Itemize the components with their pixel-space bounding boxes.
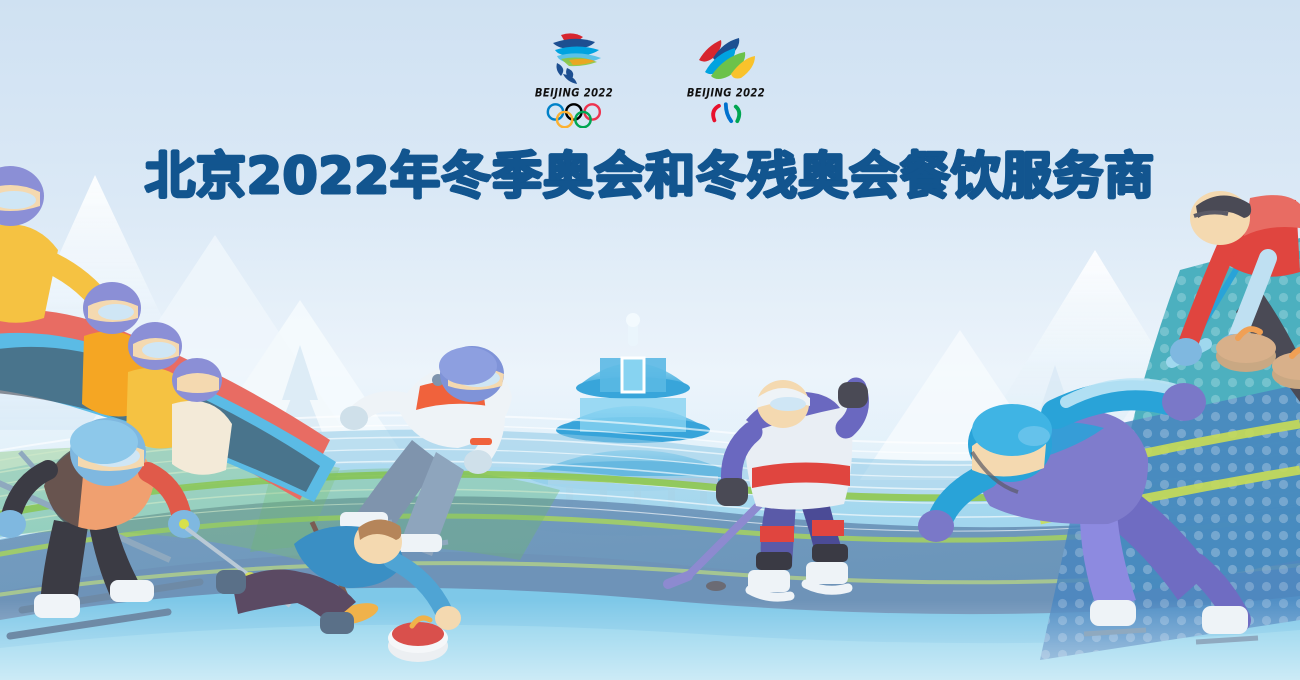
olympic-wordmark: BEIJING 2022 xyxy=(535,87,613,99)
athlete-short-track-speed-skating xyxy=(330,346,512,556)
athlete-ice-hockey xyxy=(668,380,868,597)
paralympic-emblem: BEIJING 2022 xyxy=(676,30,776,128)
banner-title-text: 北京2022年冬季奥会和冬残奥会餐饮服务商 xyxy=(145,146,1155,206)
paralympic-emblem-mark xyxy=(683,30,769,86)
paralympic-agitos-icon xyxy=(696,102,756,128)
athlete-speed-skating xyxy=(918,383,1258,642)
beijing-2022-banner: BEIJING 2022 BEIJING 2022 xyxy=(0,0,1300,680)
paralympic-wordmark: BEIJING 2022 xyxy=(687,87,765,99)
emblems-row: BEIJING 2022 BEIJING 2022 xyxy=(0,30,1300,128)
page-title: 北京2022年冬季奥会和冬残奥会餐饮服务商 xyxy=(0,146,1300,206)
olympic-rings-icon xyxy=(544,102,604,128)
olympic-emblem: BEIJING 2022 xyxy=(524,30,624,128)
olympic-emblem-mark xyxy=(531,30,617,86)
